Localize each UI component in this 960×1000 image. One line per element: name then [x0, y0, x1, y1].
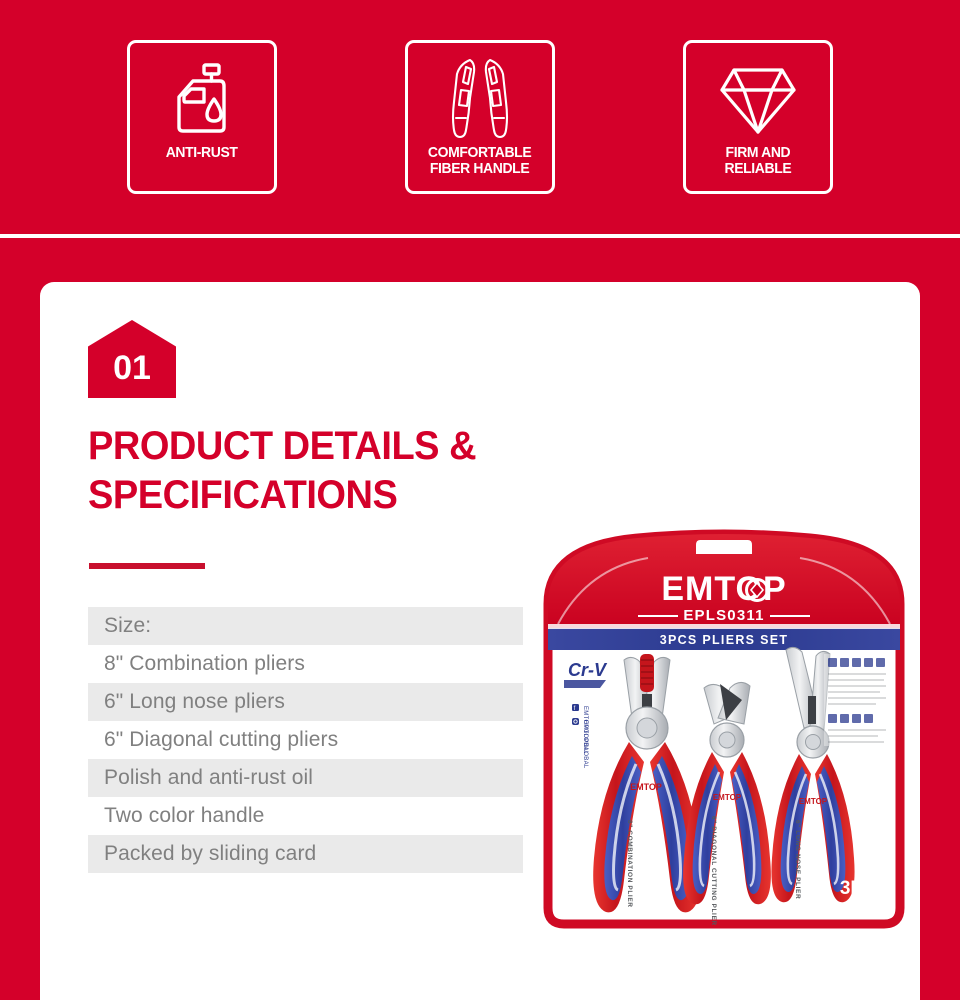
handle-brand-mark: EMTOP — [799, 797, 828, 806]
instagram-icon — [572, 718, 579, 725]
multilingual-spec-panel — [824, 654, 892, 746]
title-underline — [89, 563, 205, 569]
banner-divider — [0, 234, 960, 238]
crv-label: Cr-V — [568, 660, 608, 680]
package-set-name: 3PCS PLIERS SET — [660, 633, 789, 647]
feature-banner: ANTI-RUST COMFORTABLE FIBER HANDLE — [0, 0, 960, 234]
feature-card-fiber-handle: COMFORTABLE FIBER HANDLE — [405, 40, 555, 194]
quantity-badge-bottom: /set — [852, 898, 885, 919]
spec-row: Size: — [88, 607, 523, 645]
feature-card-firm-reliable: FIRM AND RELIABLE — [683, 40, 833, 194]
facebook-icon: f — [572, 704, 579, 712]
handle-brand-mark: EMTOP — [713, 793, 742, 802]
pliers-handle-icon — [442, 57, 518, 143]
spec-row: 6" Diagonal cutting pliers — [88, 721, 523, 759]
oil-can-icon — [171, 57, 233, 143]
spec-row: Polish and anti-rust oil — [88, 759, 523, 797]
spec-row: 8" Combination pliers — [88, 645, 523, 683]
feature-label: ANTI-RUST — [166, 145, 238, 161]
diamond-icon — [718, 57, 798, 143]
product-detail-page: ANTI-RUST COMFORTABLE FIBER HANDLE — [0, 0, 960, 1000]
section-number: 01 — [88, 320, 176, 398]
spec-row: Two color handle — [88, 797, 523, 835]
tool-label-diagonal: 6" DIAGONAL CUTTING PLIER — [710, 816, 717, 926]
quantity-badge-top: 3Pcs — [840, 878, 884, 899]
feature-label: COMFORTABLE FIBER HANDLE — [428, 145, 531, 177]
section-number-badge: 01 — [88, 320, 176, 398]
product-package-image: EMTOP EPLS0311 3PCS PLIERS SET Cr-V — [528, 528, 920, 934]
crv-badge: Cr-V — [564, 660, 608, 688]
blister-card: EMTOP EPLS0311 3PCS PLIERS SET Cr-V — [548, 528, 900, 926]
feature-label: FIRM AND RELIABLE — [725, 145, 792, 177]
package-model: EPLS0311 — [683, 607, 764, 624]
page-title: PRODUCT DETAILS & SPECIFICATIONS — [88, 422, 535, 520]
spec-row: Packed by sliding card — [88, 835, 523, 873]
tool-label-combination: 8" COMBINATION PLIER — [626, 820, 633, 908]
content-card: 01 PRODUCT DETAILS & SPECIFICATIONS Size… — [40, 282, 920, 1000]
instagram-handle: EMTOPGLOBAL — [582, 720, 588, 769]
handle-brand-mark: EMTOP — [630, 782, 662, 792]
spec-row: 6" Long nose pliers — [88, 683, 523, 721]
spec-list: Size: 8" Combination pliers 6" Long nose… — [88, 607, 523, 873]
tool-label-long-nose: 6" LONG NOSE PLIER — [794, 820, 801, 899]
feature-card-anti-rust: ANTI-RUST — [127, 40, 277, 194]
